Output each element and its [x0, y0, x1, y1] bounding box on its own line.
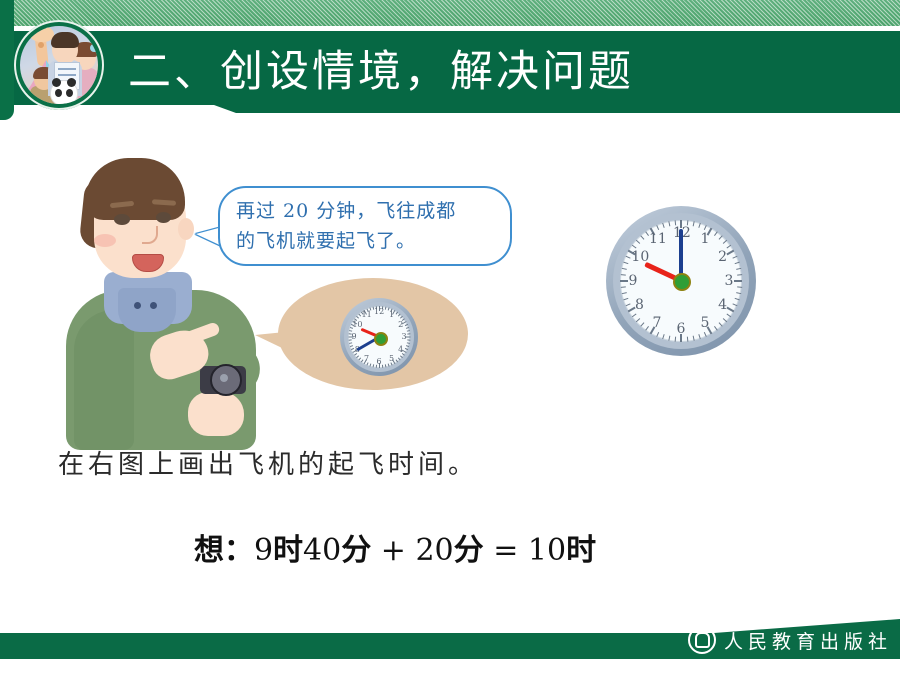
- man-cheek-blush: [94, 234, 116, 247]
- equation-plus: +: [381, 533, 406, 568]
- man-hair: [85, 158, 185, 220]
- man-shirt-button: [150, 302, 157, 309]
- equation-term1-num: 9: [254, 533, 273, 568]
- header-stripe-band: [0, 0, 900, 26]
- clock-numeral-9: 9: [349, 332, 359, 342]
- wristwatch-dial: [220, 374, 228, 382]
- clock-numeral-5: 5: [387, 354, 397, 364]
- header-left-edge: [0, 0, 14, 120]
- man-ear: [178, 218, 194, 240]
- panda-icon: [50, 80, 78, 104]
- speech-bubble-text: 再过 20 分钟，飞往成都 的飞机就要起飞了。: [236, 196, 498, 256]
- clock-numeral-3: 3: [721, 273, 737, 289]
- clock-numeral-8: 8: [631, 297, 647, 313]
- classroom-children-badge-icon: [14, 20, 104, 110]
- badge-illustration: [20, 26, 98, 104]
- speech-bubble: 再过 20 分钟，飞往成都 的飞机就要起飞了。: [218, 186, 512, 266]
- header-gap: [0, 26, 900, 31]
- man-shirt-placket: [118, 288, 176, 332]
- equation-term1-unit: 时: [273, 533, 303, 568]
- clock-numeral-11: 11: [362, 310, 372, 320]
- clock-tick-minor: [674, 337, 676, 342]
- clock-tick-minor: [686, 337, 688, 342]
- equation-term1-min: 40: [303, 533, 341, 568]
- current-time-clock[interactable]: 121234567891011: [340, 298, 418, 376]
- clock-numeral-3: 3: [399, 332, 409, 342]
- man-hand-lower: [188, 392, 244, 436]
- clock-center-pin: [374, 332, 388, 346]
- clock-numeral-2: 2: [396, 320, 406, 330]
- equation-result-unit: 时: [566, 533, 596, 568]
- clock-tick-minor: [384, 364, 386, 367]
- equation-result-num: 10: [528, 533, 566, 568]
- clock-numeral-4: 4: [715, 297, 731, 313]
- speech-line-2: 的飞机就要起飞了。: [236, 226, 498, 256]
- equation-line: 想：9时40分 + 20分 = 10时: [0, 528, 790, 574]
- publisher-logo: 人民教育出版社: [688, 625, 892, 655]
- equation-equals: =: [493, 533, 518, 568]
- clock-tick-minor: [387, 363, 389, 366]
- clock-tick-minor: [369, 363, 371, 366]
- clock-numeral-4: 4: [396, 345, 406, 355]
- clock-center-pin: [673, 273, 691, 291]
- clock-tick-minor: [384, 307, 386, 310]
- slide-canvas: 二、创设情境，解决问题 再过 20 分钟，飞往成都 的飞机就要起飞了。: [0, 0, 900, 675]
- man-sweater-shadow: [74, 310, 134, 450]
- equation-term1-min-unit: 分: [341, 533, 371, 568]
- clock-numeral-7: 7: [649, 315, 665, 331]
- equation-term2-unit: 分: [454, 533, 484, 568]
- clock-numeral-7: 7: [362, 354, 372, 364]
- equation-label: 想：: [194, 533, 254, 568]
- boy-hair: [51, 32, 79, 48]
- man-eye-right: [156, 212, 171, 223]
- man-shirt-button: [134, 302, 141, 309]
- clock-numeral-1: 1: [697, 231, 713, 247]
- clock-numeral-2: 2: [715, 249, 731, 265]
- clock-numeral-5: 5: [697, 315, 713, 331]
- clock-numeral-11: 11: [649, 231, 665, 247]
- page-title: 二、创设情境，解决问题: [128, 36, 828, 108]
- giraffe-spot-icon: [38, 42, 44, 48]
- clock-numeral-9: 9: [625, 273, 641, 289]
- departure-time-clock[interactable]: 121234567891011: [606, 206, 756, 356]
- clock-numeral-6: 6: [374, 357, 384, 367]
- peoples-education-press-emblem-icon: [688, 626, 716, 654]
- clock-numeral-6: 6: [673, 321, 689, 337]
- publisher-name: 人民教育出版社: [724, 627, 892, 654]
- equation-term2-num: 20: [415, 533, 453, 568]
- speech-line-1: 再过 20 分钟，飞往成都: [236, 196, 498, 226]
- prompt-text: 在右图上画出飞机的起飞时间。: [58, 445, 698, 485]
- girl-bow-icon: [90, 44, 98, 52]
- man-eye-left: [114, 214, 130, 225]
- clock-numeral-12: 12: [374, 307, 384, 317]
